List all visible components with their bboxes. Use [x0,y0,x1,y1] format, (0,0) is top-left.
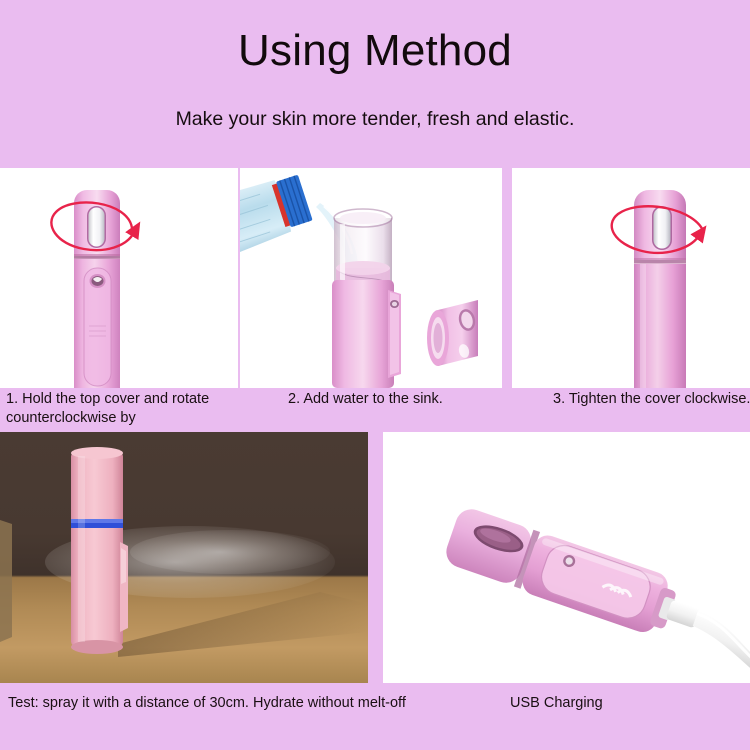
steps-row [0,168,750,388]
usb-cable [685,611,750,671]
step-captions: 1. Hold the top cover and rotate counter… [0,388,750,432]
usb-charging-illustration [383,432,750,683]
step-2-illustration [240,168,502,388]
step-1-illustration [0,168,238,388]
detached-cap [427,300,478,366]
page-subtitle: Make your skin more tender, fresh and el… [0,108,750,131]
usb-charging-panel [383,432,750,683]
step-2-panel [240,168,502,388]
spray-test-panel [0,432,368,683]
step-3-caption: 3. Tighten the cover clockwise. [553,390,750,409]
step-1-caption: 1. Hold the top cover and rotate counter… [6,390,236,428]
spray-test-illustration [0,432,368,683]
header: Using Method Make your skin more tender,… [0,0,750,168]
step-3-illustration [512,168,750,388]
step-2-caption: 2. Add water to the sink. [288,390,503,409]
spray-test-caption: Test: spray it with a distance of 30cm. … [8,694,478,713]
step-3-panel [512,168,750,388]
page-title: Using Method [0,26,750,76]
sprayer-device-charging [441,505,750,671]
step-1-panel [0,168,238,388]
sprayer-device [71,447,128,654]
usb-charging-caption: USB Charging [510,694,710,713]
bottom-captions: Test: spray it with a distance of 30cm. … [0,690,750,730]
